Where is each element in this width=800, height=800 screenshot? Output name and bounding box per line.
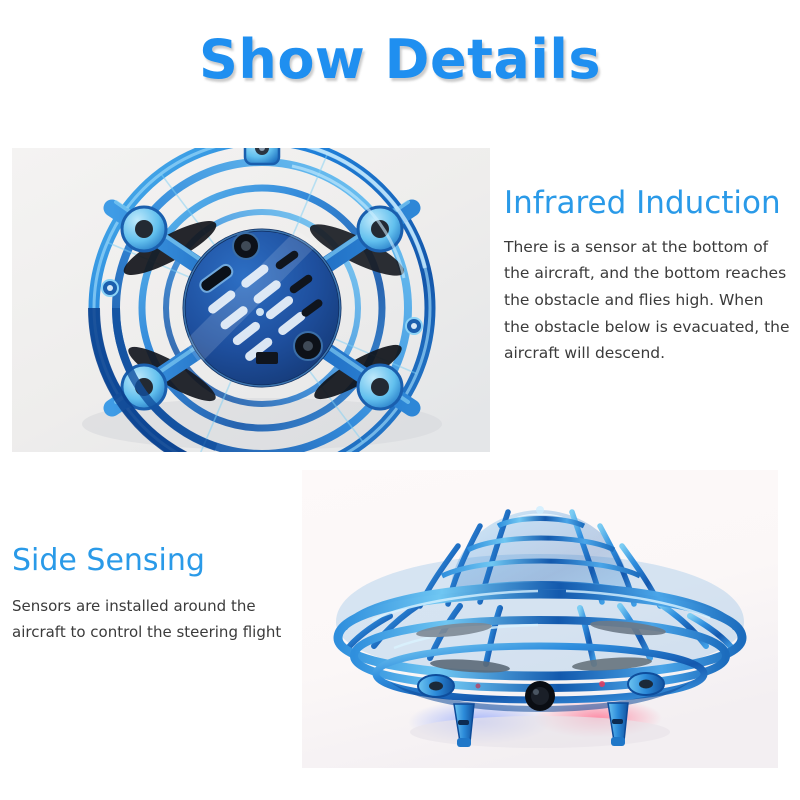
feature-infrared-induction: Infrared Induction There is a sensor at … [504, 186, 792, 367]
feature-body-side-sensing: Sensors are installed around the aircraf… [12, 593, 302, 646]
drone-side-photo [302, 470, 778, 768]
center-hub [184, 230, 340, 386]
drone-side-illustration [302, 470, 778, 768]
drone-underside-photo [12, 148, 490, 452]
drone-underside-illustration [12, 148, 490, 452]
feature-side-sensing: Side Sensing Sensors are installed aroun… [12, 544, 302, 646]
page-title: Show Details [0, 28, 800, 91]
feature-body-infrared: There is a sensor at the bottom of the a… [504, 234, 792, 367]
product-detail-page: Show Details [0, 0, 800, 800]
infrared-sensor-dome [525, 681, 555, 711]
feature-heading-infrared: Infrared Induction [504, 186, 792, 222]
led-indicator-red [599, 681, 605, 687]
feature-heading-side-sensing: Side Sensing [12, 544, 302, 579]
